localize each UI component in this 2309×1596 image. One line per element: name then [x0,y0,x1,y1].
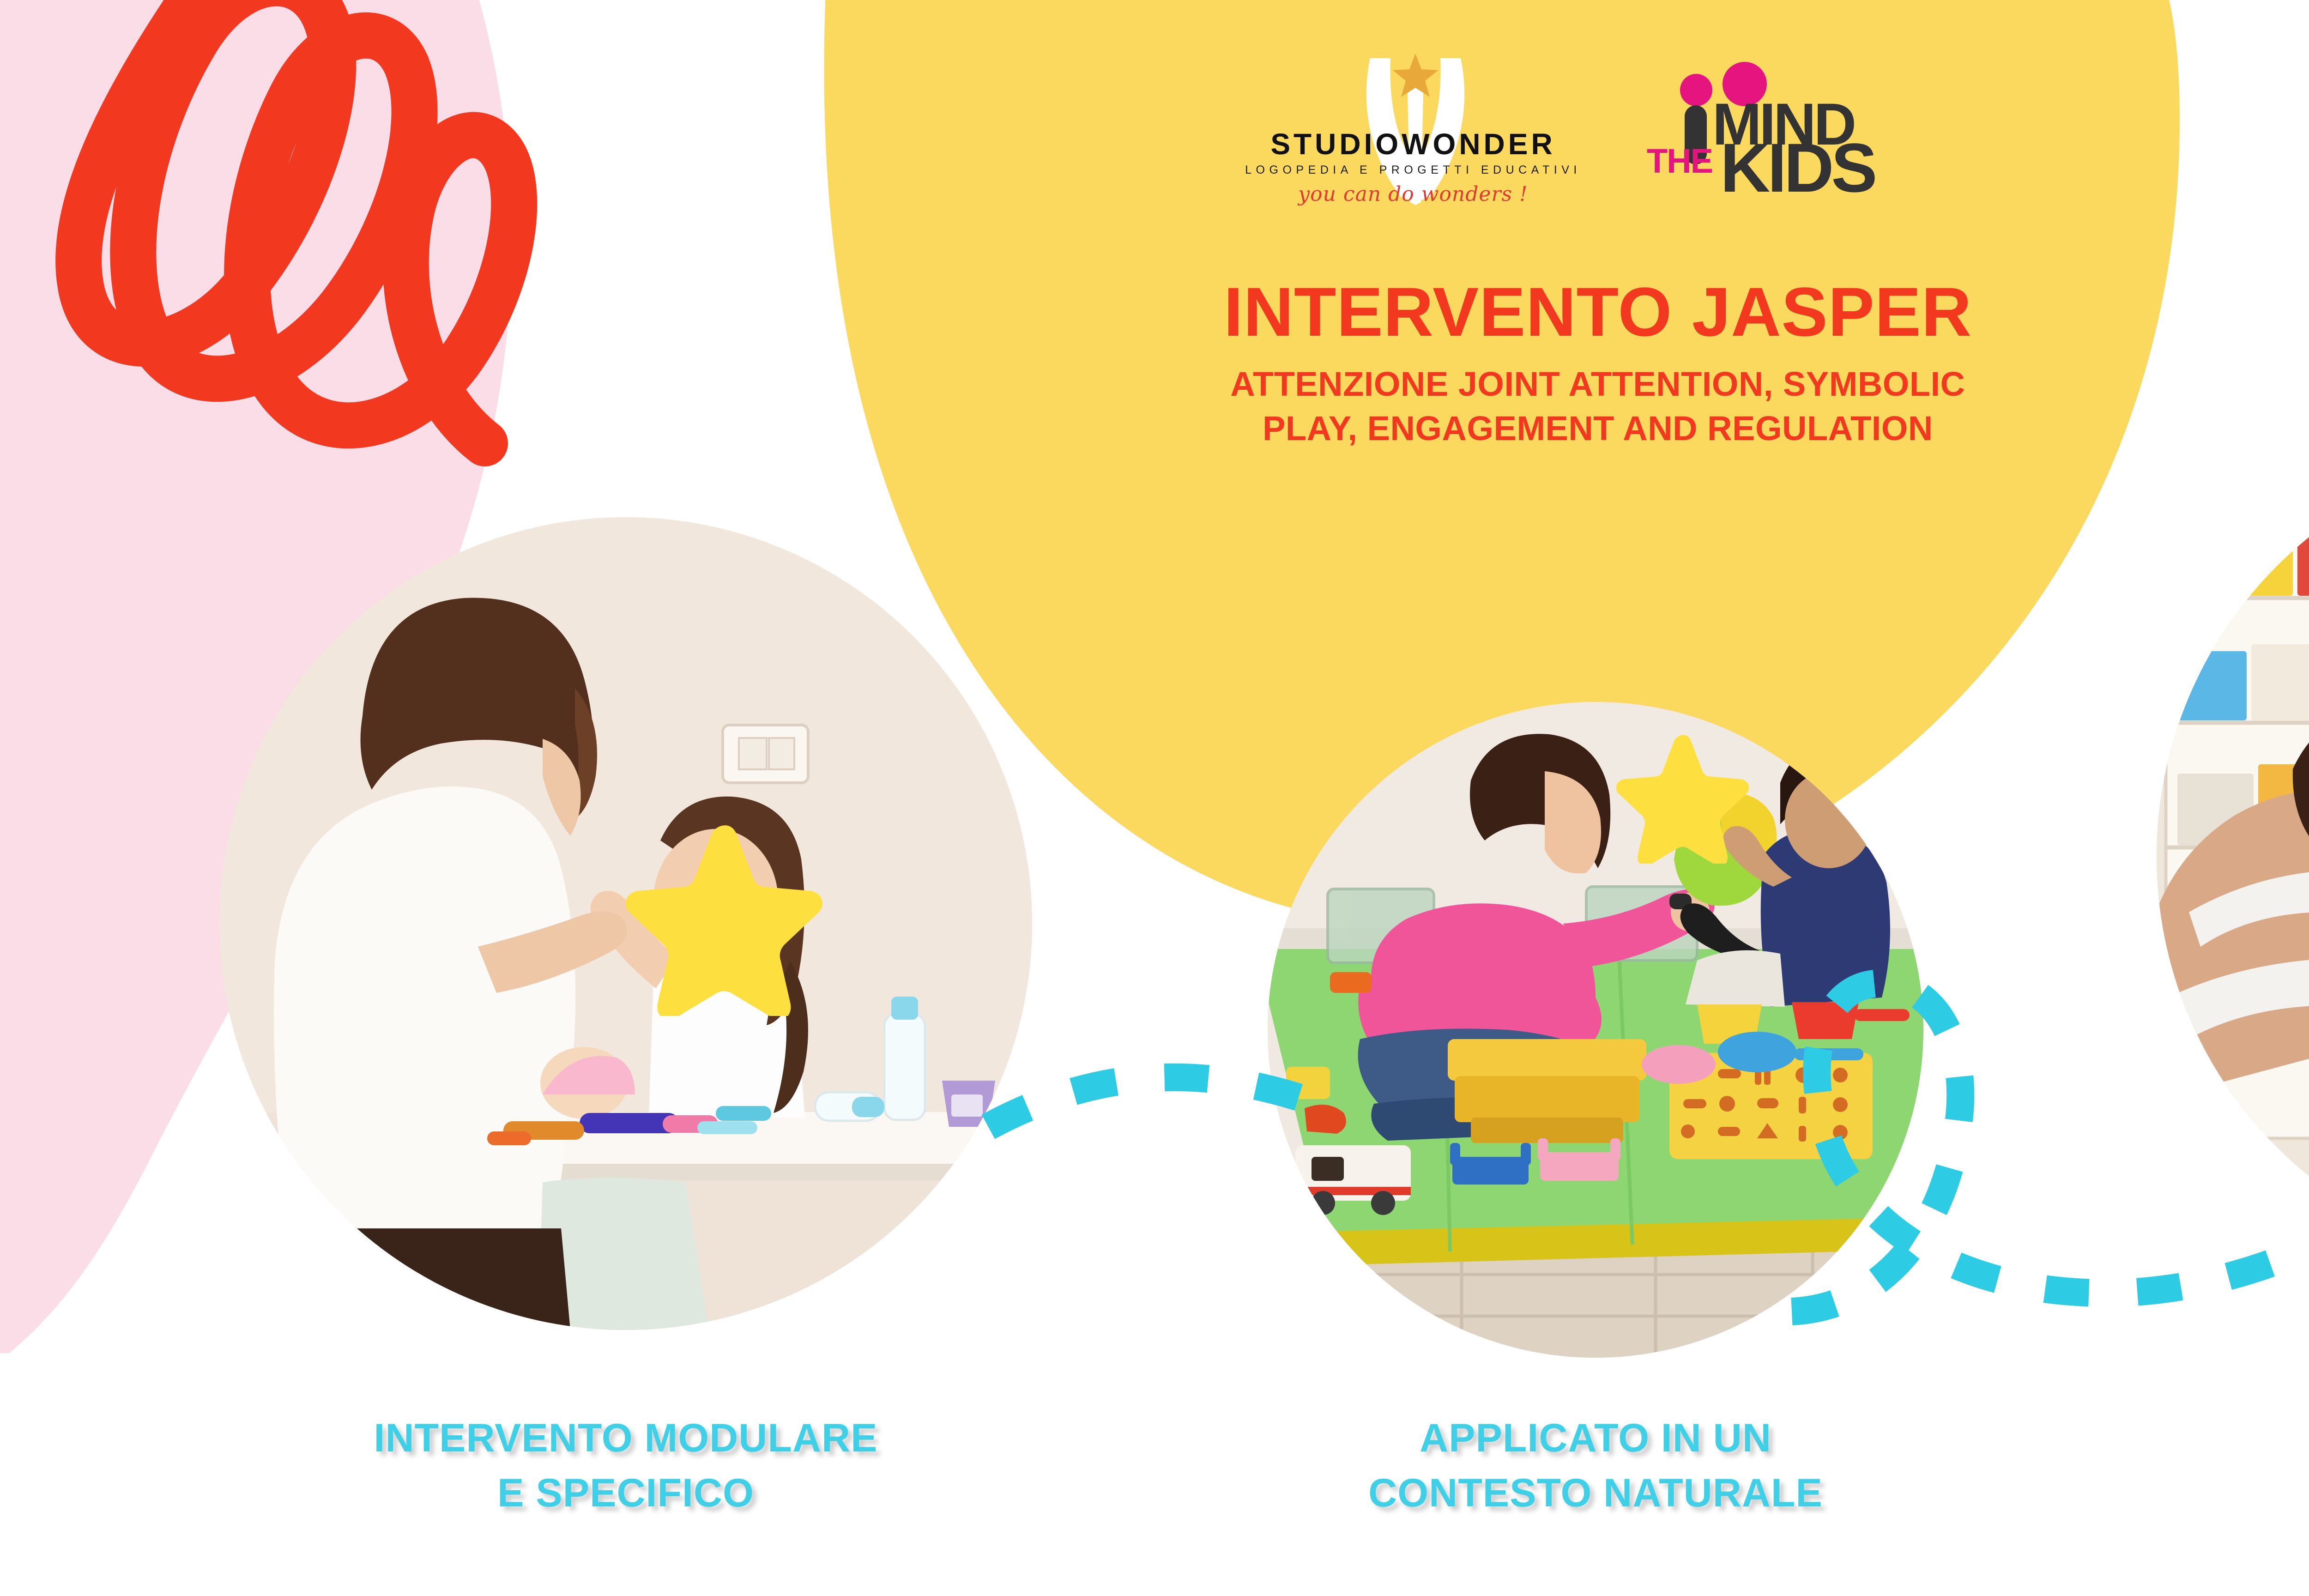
photo-3-illustration [2157,446,2309,1268]
page-title: INTERVENTO JASPER [993,277,2203,346]
logo-row: STUDIOWONDER LOGOPEDIA E PROGETTI EDUCAT… [1238,55,1875,208]
mtk-line-the: THE [1647,144,1712,178]
caption-2-line-1: APPLICATO IN UN [1118,1411,2073,1466]
caption-2-line-2: CONTESTO NATURALE [1118,1466,2073,1521]
studio-wonder-script: you can do wonders ! [1238,182,1589,206]
page-subtitle-line-1: ATTENZIONE JOINT ATTENTION, SYMBOLIC [993,362,2203,406]
mtk-line-kids: KIDS [1720,133,1874,202]
caption-card-2: APPLICATO IN UN CONTESTO NATURALE [1118,1411,2073,1520]
photo-circle-1 [219,517,1032,1330]
caption-1-line-1: INTERVENTO MODULARE [148,1411,1104,1466]
page-subtitle-line-2: PLAY, ENGAGEMENT AND REGULATION [993,406,2203,451]
poster-root: STUDIOWONDER LOGOPEDIA E PROGETTI EDUCAT… [0,0,2309,1596]
caption-card-3: SVILUPPA LA COMUNICAZIONE SOCIALE [2087,1411,2309,1520]
caption-card-1: INTERVENTO MODULARE E SPECIFICO [148,1411,1104,1520]
caption-3-line-1: SVILUPPA LA [2087,1411,2309,1466]
page-subtitle: ATTENZIONE JOINT ATTENTION, SYMBOLIC PLA… [993,362,2203,451]
face-cover-star-1 [626,817,824,1016]
photo-2-illustration [1268,702,1923,1358]
photo-circle-2 [1268,702,1923,1358]
caption-1-line-2: E SPECIFICO [148,1466,1104,1521]
header-block: INTERVENTO JASPER ATTENZIONE JOINT ATTEN… [993,277,2203,451]
studio-wonder-tagline: LOGOPEDIA E PROGETTI EDUCATIVI [1238,164,1589,176]
photo-circle-3 [2157,446,2309,1268]
face-cover-star-2 [1616,730,1750,864]
mtk-dot-small-icon [1680,74,1712,106]
studio-wonder-name: STUDIOWONDER [1238,129,1589,159]
mind-the-kids-logo: MIND THE KIDS [1644,55,1875,208]
caption-3-line-2: COMUNICAZIONE SOCIALE [2087,1466,2309,1521]
studio-wonder-logo: STUDIOWONDER LOGOPEDIA E PROGETTI EDUCAT… [1238,55,1589,208]
